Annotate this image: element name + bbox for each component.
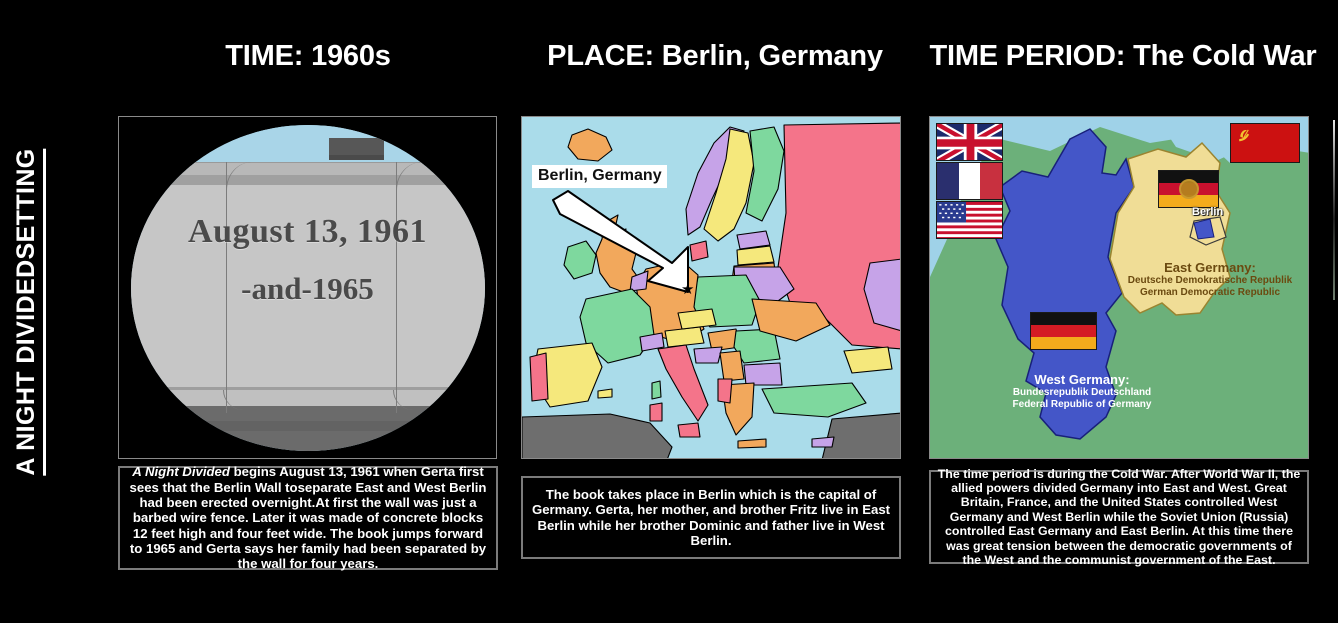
west-germany-native: Bundesrepublik Deutschland [982, 387, 1182, 399]
cell-header-time-period: TIME PERIOD: The Cold War [928, 40, 1318, 73]
wall-oval-vignette: August 13, 1961 -and-1965 [131, 125, 485, 451]
caption-book-title: A Night Divided [132, 464, 230, 479]
wall-date-line1: August 13, 1961 [131, 213, 485, 251]
offscreen-panel-edge [1333, 120, 1335, 300]
panel-time-art[interactable]: August 13, 1961 -and-1965 [118, 116, 497, 459]
west-germany-label: West Germany: Bundesrepublik Deutschland… [982, 372, 1182, 411]
storyboard-vertical-title: A NIGHT DIVIDEDSETTING [0, 0, 58, 623]
island-baleares [598, 389, 612, 398]
panel-place-art[interactable]: Berlin, Germany ★ [521, 116, 901, 459]
divided-germany-map: Berlin East Germany: Deutsche Demokratis… [930, 117, 1308, 458]
cell-header-place: PLACE: Berlin, Germany [520, 40, 910, 73]
wall-lower-body [131, 390, 485, 408]
east-germany-native: Deutsche Demokratische Republik [1110, 275, 1309, 287]
panel-time-period-art[interactable]: Berlin East Germany: Deutsche Demokratis… [929, 116, 1309, 459]
country-albania [718, 379, 732, 403]
europe-map: Berlin, Germany ★ [522, 117, 900, 458]
country-latvia [737, 246, 774, 265]
cell-header-time: TIME: 1960s [118, 40, 498, 73]
country-levant [822, 413, 901, 459]
country-denmark [690, 241, 708, 261]
storyboard-title-text: A NIGHT DIVIDEDSETTING [12, 148, 46, 475]
gdr-emblem [1179, 179, 1199, 199]
east-germany-label: East Germany: Deutsche Demokratische Rep… [1110, 260, 1309, 299]
wall-date-text: August 13, 1961 -and-1965 [131, 213, 485, 307]
island-sardinia [650, 403, 662, 421]
storyboard-canvas: A NIGHT DIVIDEDSETTING TIME: 1960s PLACE… [0, 0, 1338, 623]
country-croatia [694, 347, 722, 363]
country-austria [665, 327, 704, 347]
wall-top-slab [329, 138, 384, 160]
west-germany-english: Federal Republic of Germany [982, 399, 1182, 411]
berlin-map-label: Berlin [1192, 206, 1223, 218]
wall-date-line2: -and-1965 [131, 271, 485, 307]
ground-shadow [152, 421, 485, 431]
west-berlin-sector [1194, 219, 1214, 239]
west-germany-title: West Germany: [982, 372, 1182, 387]
country-czechia [678, 309, 716, 329]
caption-place: The book takes place in Berlin which is … [521, 476, 901, 559]
berlin-callout-label: Berlin, Germany [532, 165, 667, 188]
country-caucasus [844, 347, 892, 373]
wall-scene: August 13, 1961 -and-1965 [119, 117, 496, 458]
east-germany-title: East Germany: [1110, 260, 1309, 275]
country-serbia [720, 351, 744, 381]
berlin-star-marker: ★ [681, 282, 694, 297]
caption-place-text: The book takes place in Berlin which is … [528, 487, 894, 548]
island-corsica [652, 381, 661, 399]
country-portugal [530, 353, 548, 401]
soviet-union-flag [1230, 123, 1300, 163]
caption-time: A Night Divided begins August 13, 1961 w… [118, 466, 498, 570]
united-kingdom-flag [936, 123, 1003, 161]
island-cyprus [812, 437, 834, 447]
east-germany-english: German Democratic Republic [1110, 287, 1309, 299]
country-bulgaria [744, 363, 782, 385]
west-germany-flag [1030, 312, 1097, 350]
island-sicily [678, 423, 700, 437]
united-states-flag [936, 201, 1003, 239]
caption-time-period: The time period is during the Cold War. … [929, 470, 1309, 564]
island-crete [738, 439, 766, 448]
wall-top-ledge [131, 162, 485, 176]
france-flag [936, 162, 1003, 200]
caption-time-text: begins August 13, 1961 when Gerta first … [130, 464, 487, 571]
caption-time-period-text: The time period is during the Cold War. … [936, 467, 1302, 568]
east-germany-flag [1158, 170, 1219, 208]
